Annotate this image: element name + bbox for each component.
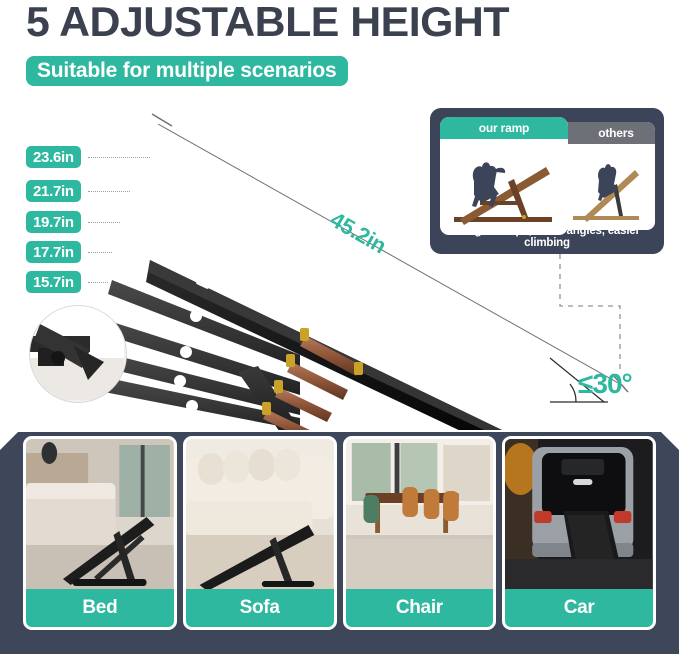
leader-line-2 (88, 222, 120, 223)
car-scene-icon (505, 439, 653, 595)
others-panel: others (561, 122, 655, 230)
height-badge-label: 15.7in (33, 274, 74, 291)
scenario-tile-car[interactable]: Car (502, 436, 656, 630)
bracket-detail-icon (30, 306, 124, 400)
height-badge-0: 23.6in (26, 146, 81, 168)
height-badge-1: 21.7in (26, 180, 81, 202)
scenario-photo-bed (26, 439, 174, 595)
page-title: 5 ADJUSTABLE HEIGHT (26, 0, 509, 46)
scenario-tile-sofa[interactable]: Sofa (183, 436, 337, 630)
comparison-connector-line (538, 254, 678, 389)
scenario-label-chair: Chair (346, 589, 494, 627)
our-ramp-icon (440, 139, 568, 235)
height-badge-4: 15.7in (26, 271, 81, 293)
scenario-label-sofa: Sofa (186, 589, 334, 627)
subtitle-pill: Suitable for multiple scenarios (26, 56, 348, 86)
subtitle-text: Suitable for multiple scenarios (37, 59, 337, 83)
scenario-photo-car (505, 439, 653, 595)
bedroom-scene-icon (26, 439, 174, 595)
height-badge-label: 19.7in (33, 214, 74, 231)
infographic-page: 5 ADJUSTABLE HEIGHT Suitable for multipl… (0, 0, 679, 654)
scenario-tiles: Bed Sofa (0, 436, 679, 636)
livingroom-scene-icon (186, 439, 334, 595)
leader-line-4 (88, 282, 108, 283)
leader-line-0 (88, 157, 150, 158)
height-badge-3: 17.7in (26, 241, 81, 263)
leader-line-1 (88, 191, 130, 192)
height-badge-label: 23.6in (33, 149, 74, 166)
scenario-photo-sofa (186, 439, 334, 595)
diningroom-scene-icon (346, 439, 494, 595)
scenario-label-bed: Bed (26, 589, 174, 627)
height-badge-2: 19.7in (26, 211, 81, 233)
detail-zoom-inset (29, 305, 127, 403)
scenario-tile-chair[interactable]: Chair (343, 436, 497, 630)
height-badge-label: 21.7in (33, 183, 74, 200)
our-ramp-panel: our ramp (440, 117, 568, 235)
leader-line-3 (88, 252, 112, 253)
others-ramp-icon (561, 144, 655, 230)
comparison-card: others our ramp Lon (430, 108, 664, 254)
height-badge-label: 17.7in (33, 244, 74, 261)
scenario-label-car: Car (505, 589, 653, 627)
others-panel-header: others (561, 122, 655, 144)
our-ramp-panel-header: our ramp (440, 117, 568, 139)
scenario-photo-chair (346, 439, 494, 595)
scenario-tile-bed[interactable]: Bed (23, 436, 177, 630)
